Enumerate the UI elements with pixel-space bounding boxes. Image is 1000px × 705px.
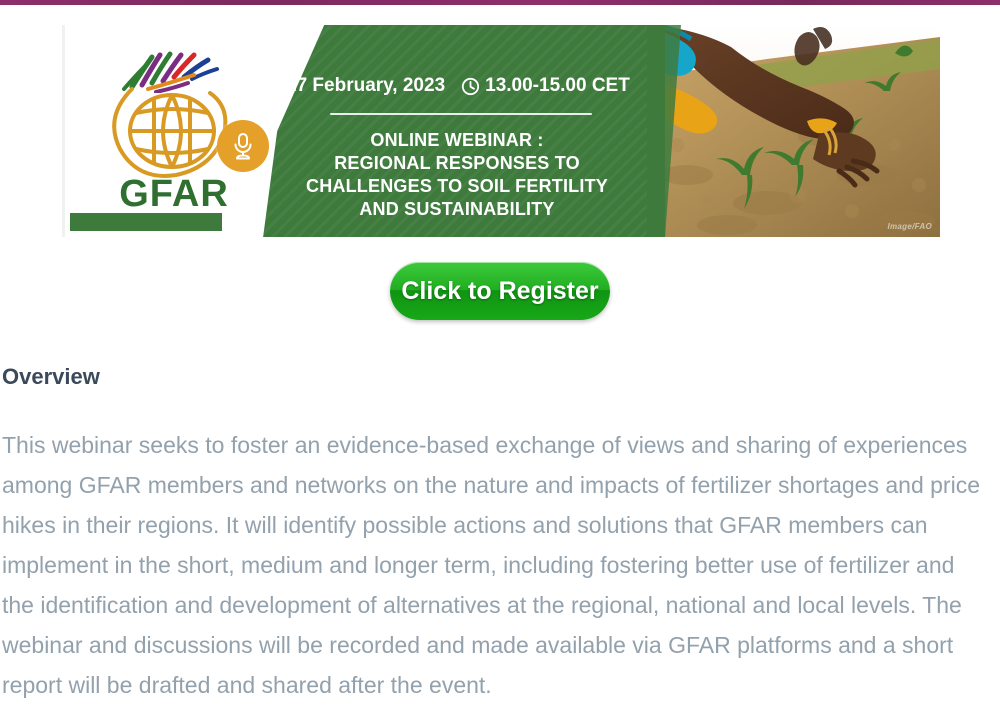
photo-credit: Image/FAO [888, 222, 933, 231]
banner-date: 27 February, 2023 [262, 75, 445, 97]
banner-photo: Image/FAO [647, 25, 940, 237]
banner-divider [330, 113, 592, 115]
banner-date-text: 27 February, 2023 [286, 75, 445, 97]
clock-icon [461, 77, 480, 96]
planting-seedlings-photo [647, 25, 940, 237]
webinar-title-line-4: AND SUSTAINABILITY [232, 198, 682, 221]
banner-datetime-row: 27 February, 2023 13.00-15.00 CET [262, 73, 662, 99]
webinar-banner: GFAR 27 February, 2023 13.00-15.00 CET [62, 25, 940, 237]
top-accent-bar [0, 0, 1000, 5]
banner-time: 13.00-15.00 CET [461, 75, 630, 97]
webinar-title-line-2: REGIONAL RESPONSES TO [232, 152, 682, 175]
banner-time-text: 13.00-15.00 CET [485, 75, 630, 97]
click-to-register-button[interactable]: Click to Register [390, 262, 610, 320]
webinar-title-line-3: CHALLENGES TO SOIL FERTILITY [232, 175, 682, 198]
calendar-icon [262, 77, 281, 96]
webinar-title-line-1: ONLINE WEBINAR : [232, 129, 682, 152]
overview-paragraph: This webinar seeks to foster an evidence… [2, 425, 992, 705]
webinar-title: ONLINE WEBINAR : REGIONAL RESPONSES TO C… [232, 129, 682, 221]
register-button-container: Click to Register [0, 262, 1000, 320]
globe-icon [102, 73, 234, 181]
overview-heading: Overview [2, 364, 100, 390]
